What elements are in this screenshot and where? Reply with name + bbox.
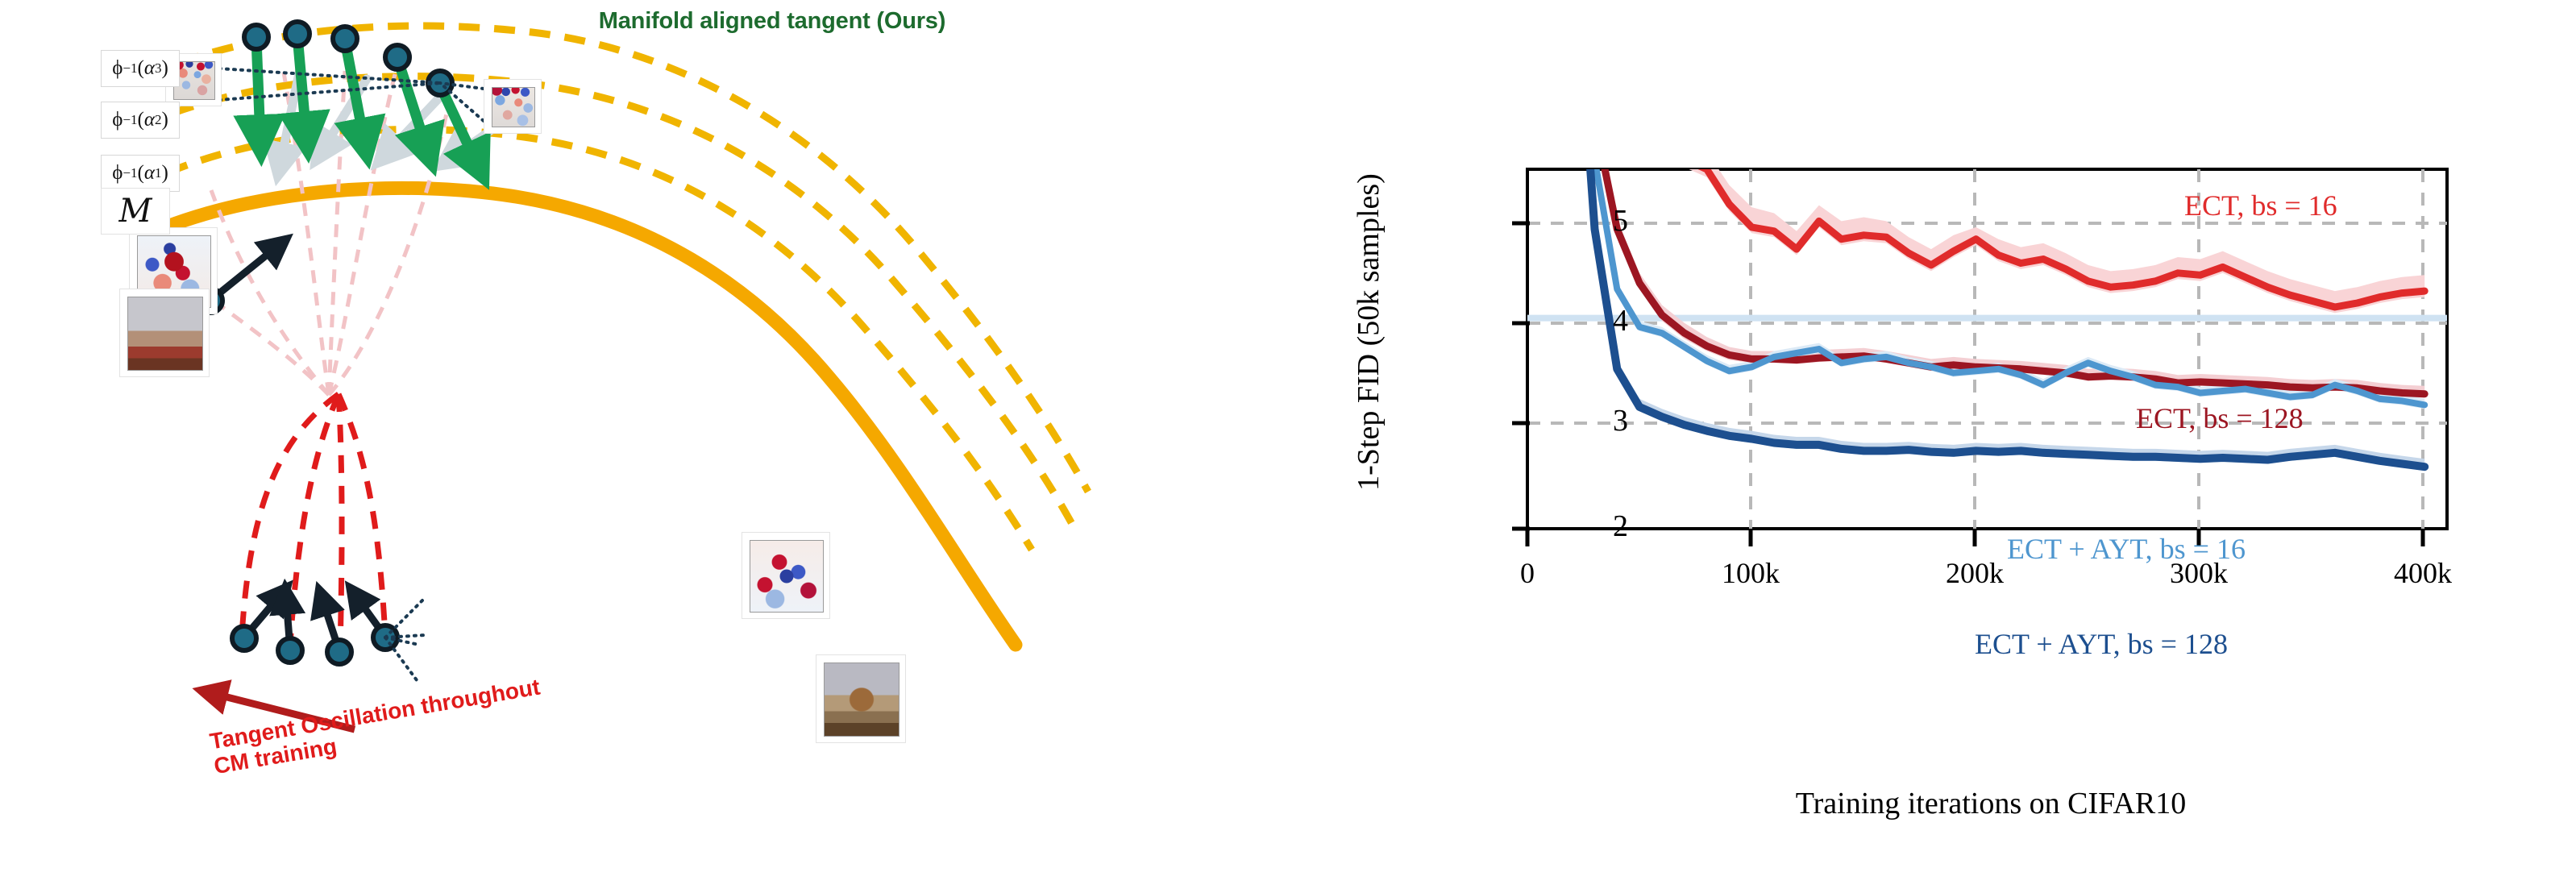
inverse-exponent: −1 bbox=[123, 112, 137, 128]
chart-series-group bbox=[1573, 0, 2425, 471]
manifold-diagram-svg bbox=[0, 0, 1322, 893]
ytick-label-2: 2 bbox=[1580, 509, 1628, 544]
level-set-alpha3-curve bbox=[179, 26, 1088, 492]
manifold-label: M bbox=[101, 188, 170, 235]
inverse-exponent: −1 bbox=[123, 60, 137, 77]
close-paren: ) bbox=[161, 162, 168, 185]
close-paren: ) bbox=[161, 109, 168, 131]
alpha-index: 1 bbox=[155, 165, 162, 181]
series-label-ect-128: ECT, bs = 128 bbox=[2136, 401, 2304, 435]
close-paren: ) bbox=[161, 57, 168, 80]
series-label-ayt-128: ECT + AYT, bs = 128 bbox=[1975, 627, 2228, 661]
phi-symbol: ϕ bbox=[112, 57, 123, 80]
series-label-ayt-16: ECT + AYT, bs = 16 bbox=[2007, 532, 2246, 566]
open-paren: ( bbox=[137, 57, 143, 80]
thumbnail-noise-top-right bbox=[484, 79, 542, 134]
current-tangent-arrows bbox=[211, 246, 385, 651]
inverse-exponent: −1 bbox=[123, 165, 137, 181]
level-label-alpha1: ϕ−1(α1) bbox=[101, 155, 180, 192]
alpha-symbol: α bbox=[144, 57, 155, 80]
alpha-index: 2 bbox=[155, 112, 162, 128]
phi-symbol: ϕ bbox=[112, 162, 123, 185]
thumbnail-cifar-ship bbox=[119, 289, 210, 377]
alpha-symbol: α bbox=[144, 109, 155, 131]
ghost-tangent-trajectories bbox=[200, 71, 448, 395]
level-label-alpha3: ϕ−1(α3) bbox=[101, 50, 180, 87]
manifold-diagram-panel: Manifold aligned tangent (Ours) bbox=[0, 0, 1322, 893]
thumbnail-image bbox=[750, 540, 824, 613]
manifold-curve bbox=[165, 188, 1016, 645]
y-axis-title: 1-Step FID (50k samples) bbox=[1351, 106, 1386, 558]
confidence-band-ect-16 bbox=[1573, 0, 2425, 313]
phi-symbol: ϕ bbox=[112, 109, 123, 131]
alpha-index: 3 bbox=[155, 60, 162, 77]
open-paren: ( bbox=[137, 109, 143, 131]
xtick-label-400k: 400k bbox=[2358, 556, 2487, 590]
xtick-label-0: 0 bbox=[1463, 556, 1592, 590]
open-paren: ( bbox=[137, 162, 143, 185]
chart-gridlines bbox=[1527, 169, 2447, 529]
thumbnail-image bbox=[824, 662, 900, 737]
thumbnail-image bbox=[127, 297, 203, 371]
level-label-alpha2: ϕ−1(α2) bbox=[101, 102, 180, 139]
level-set-alpha2-curve bbox=[173, 77, 1072, 524]
thumbnail-feature-map-right bbox=[742, 532, 830, 619]
x-axis-title: Training iterations on CIFAR10 bbox=[1668, 786, 2313, 821]
fid-curve-chart-svg bbox=[1322, 0, 2576, 893]
alpha-symbol: α bbox=[144, 162, 155, 185]
ytick-label-3: 3 bbox=[1580, 403, 1628, 438]
fid-curve-chart-panel: 5 4 3 2 0 100k 200k 300k 400k 1-Step FID… bbox=[1322, 0, 2576, 893]
thumbnail-cifar-deer bbox=[816, 654, 906, 743]
series-label-ect-16: ECT, bs = 16 bbox=[2184, 189, 2337, 222]
ytick-label-4: 4 bbox=[1580, 303, 1628, 339]
thumbnail-image bbox=[492, 87, 535, 127]
ytick-label-5: 5 bbox=[1580, 203, 1628, 239]
xtick-label-100k: 100k bbox=[1686, 556, 1815, 590]
